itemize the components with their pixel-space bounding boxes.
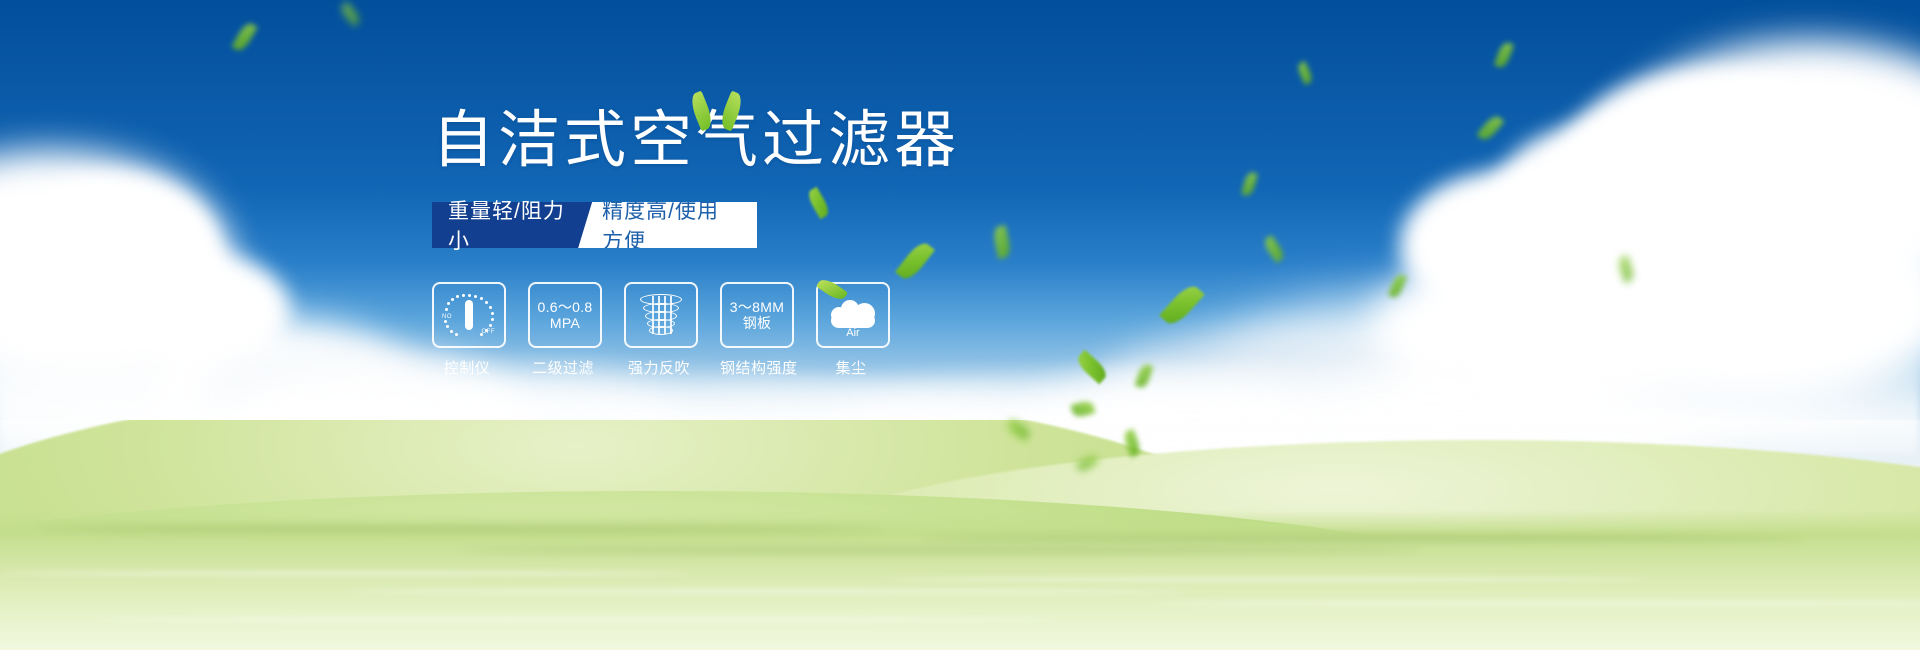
pressure-text-icon: 0.6～0.8 MPA	[537, 299, 592, 331]
feature-caption: 强力反吹	[624, 357, 694, 378]
leaf-accent-icon	[816, 276, 848, 304]
gauge-label-no: NO	[442, 314, 452, 320]
sprout-leaves-icon	[694, 92, 750, 134]
gauge-label-off: OFF	[482, 329, 496, 335]
page-title: 自洁式空气过滤器	[432, 110, 1192, 172]
feature-icon-box	[624, 282, 698, 348]
feature-caption: 二级过滤	[528, 357, 598, 378]
feature-list: NO OFF 控制仪 0.6～0.8 MPA 二级过滤	[432, 282, 1192, 378]
feature-icon-box: 3～8MM 钢板	[720, 282, 794, 348]
feature-icon-box: 0.6～0.8 MPA	[528, 282, 602, 348]
gauge-dial-icon: NO OFF	[444, 292, 494, 338]
coil-filter-icon	[639, 292, 683, 338]
feature-icon-box: NO OFF	[432, 282, 506, 348]
steel-plate-text-icon: 3～8MM 钢板	[730, 299, 784, 331]
grass-haze	[0, 530, 1920, 650]
feature-item-two-stage-filter[interactable]: 0.6～0.8 MPA 二级过滤	[528, 282, 598, 378]
feature-icon-box: Air	[816, 282, 890, 348]
air-label: Air	[827, 327, 879, 339]
feature-caption: 钢结构强度	[720, 357, 790, 378]
hero-banner: 自洁式空气过滤器 重量轻/阻力小 精度高/使用方便	[0, 0, 1920, 650]
feature-item-controller[interactable]: NO OFF 控制仪	[432, 282, 502, 378]
tagline-tabs: 重量轻/阻力小 精度高/使用方便	[432, 202, 757, 248]
feature-item-backblow[interactable]: 强力反吹	[624, 282, 694, 378]
feature-caption: 控制仪	[432, 357, 502, 378]
feature-caption: 集尘	[816, 357, 886, 378]
tab-weight-resistance[interactable]: 重量轻/阻力小	[432, 202, 592, 248]
air-cloud-icon: Air	[827, 293, 879, 337]
feature-item-dust-collection[interactable]: Air 集尘	[816, 282, 886, 378]
tab-precision-convenience[interactable]: 精度高/使用方便	[578, 202, 757, 248]
feature-item-steel-strength[interactable]: 3～8MM 钢板 钢结构强度	[720, 282, 790, 378]
gauge-needle	[465, 300, 473, 330]
banner-content: 自洁式空气过滤器 重量轻/阻力小 精度高/使用方便	[432, 110, 1192, 378]
grass-field	[0, 420, 1920, 650]
